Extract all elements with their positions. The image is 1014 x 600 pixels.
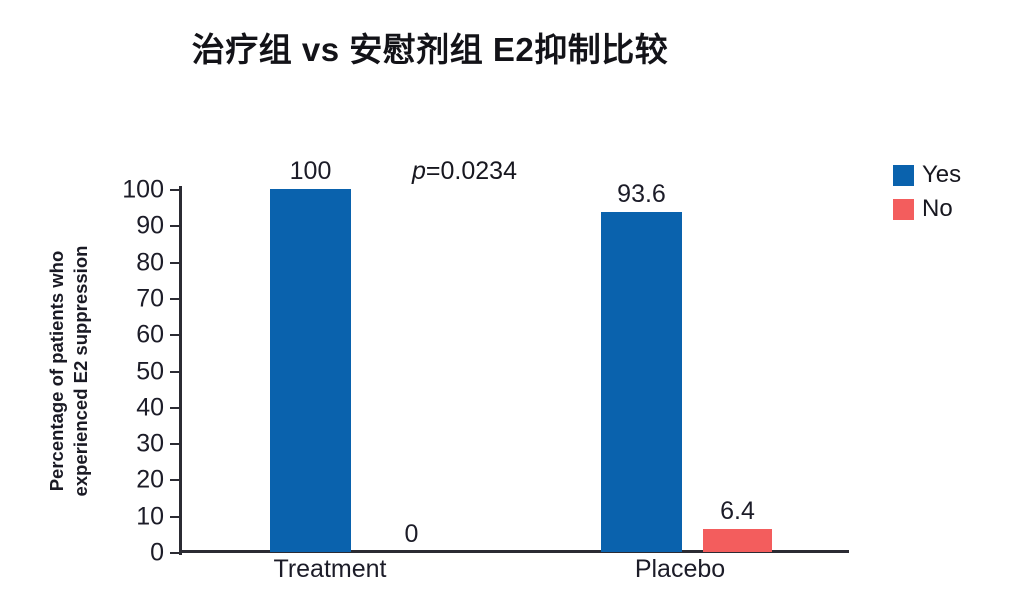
chart-figure: 治疗组 vs 安慰剂组 E2抑制比较 Percentage of patient…	[0, 0, 1014, 600]
p-value-symbol: p	[412, 157, 426, 185]
bar-label-placebo-yes: 93.6	[617, 182, 666, 207]
y-axis-label-line-1: Percentage of patients who	[45, 188, 69, 554]
p-value-number: =0.0234	[426, 157, 517, 185]
y-tick-60: 60	[170, 334, 181, 336]
y-tick-100: 100	[170, 189, 181, 191]
y-tick-10: 10	[170, 516, 181, 518]
y-tick-label-20: 20	[136, 468, 164, 493]
y-tick-50: 50	[170, 371, 181, 373]
y-tick-label-90: 90	[136, 214, 164, 239]
legend-label-yes: Yes	[922, 163, 961, 187]
chart-title: 治疗组 vs 安慰剂组 E2抑制比较	[0, 30, 860, 70]
y-tick-90: 90	[170, 225, 181, 227]
chart-legend: Yes No	[893, 158, 961, 226]
bar-placebo-no[interactable]: 6.4	[703, 529, 772, 552]
y-tick-30: 30	[170, 443, 181, 445]
y-tick-label-30: 30	[136, 432, 164, 457]
y-tick-20: 20	[170, 479, 181, 481]
x-category-label-treatment: Treatment	[240, 556, 420, 584]
y-tick-label-40: 40	[136, 395, 164, 420]
p-value-annotation: p=0.0234	[412, 159, 517, 184]
bar-treatment-yes[interactable]: 100	[270, 189, 351, 552]
y-tick-label-50: 50	[136, 359, 164, 384]
y-tick-label-100: 100	[122, 178, 164, 203]
y-tick-70: 70	[170, 298, 181, 300]
y-tick-label-60: 60	[136, 323, 164, 348]
legend-label-no: No	[922, 197, 953, 221]
legend-swatch-yes-icon	[893, 165, 914, 186]
bar-placebo-yes[interactable]: 93.6	[601, 212, 682, 552]
y-tick-label-70: 70	[136, 286, 164, 311]
bar-label-treatment-no: 0	[405, 522, 419, 547]
y-tick-label-10: 10	[136, 504, 164, 529]
plot-area: 100 90 80 70 60 50 40 30 20 10 0	[181, 189, 847, 552]
y-tick-label-0: 0	[150, 541, 164, 566]
y-axis-label: Percentage of patients who experienced E…	[45, 0, 101, 188]
y-axis-label-line-2: experienced E2 suppression	[69, 188, 93, 554]
legend-swatch-no-icon	[893, 199, 914, 220]
bar-label-treatment-yes: 100	[290, 159, 332, 184]
legend-item-yes[interactable]: Yes	[893, 158, 961, 192]
y-tick-label-80: 80	[136, 250, 164, 275]
bar-label-placebo-no: 6.4	[720, 499, 755, 524]
y-tick-0: 0	[170, 552, 181, 554]
y-tick-80: 80	[170, 262, 181, 264]
legend-item-no[interactable]: No	[893, 192, 961, 226]
x-category-label-placebo: Placebo	[590, 556, 770, 584]
y-tick-40: 40	[170, 407, 181, 409]
